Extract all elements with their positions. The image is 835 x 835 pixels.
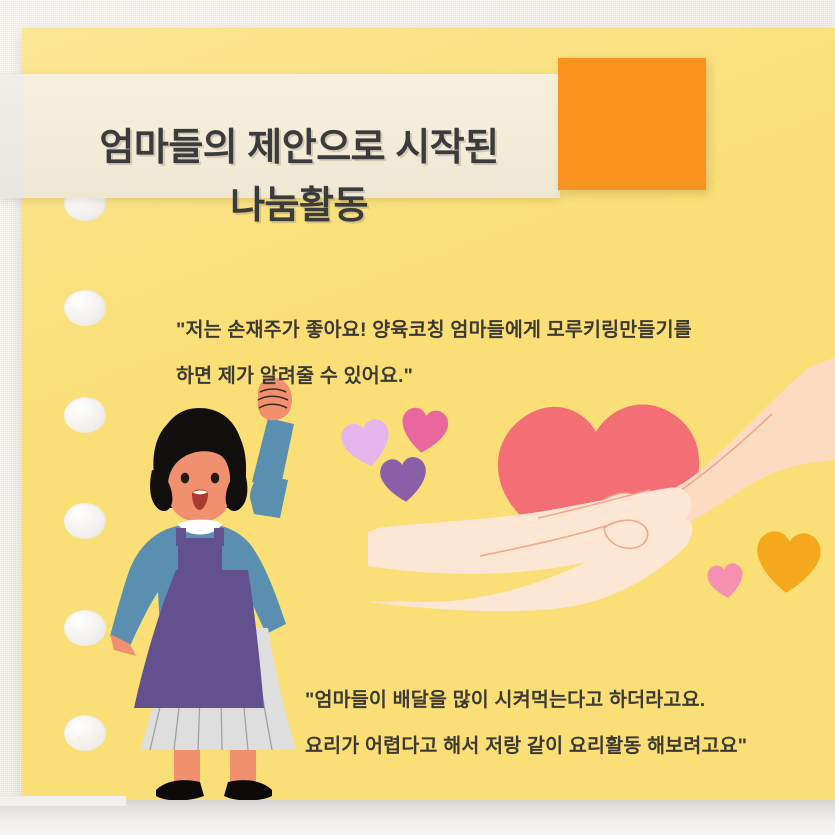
page-title-line-2: 나눔활동 [34,178,564,236]
orange-accent-block [558,58,706,190]
title-banner-tab [0,74,24,198]
quote-bottom: "엄마들이 배달을 많이 시켜먹는다고 하더라고요. 요리가 어렵다고 해서 저… [305,632,815,815]
poster-card: 엄마들의 제안으로 시작된 나눔활동 "저는 손재주가 좋아요! 양육코칭 엄마… [0,0,835,835]
notebook-punch-hole-6 [64,715,106,751]
page-title: 엄마들의 제안으로 시작된 나눔활동 [34,62,564,293]
eye-left [181,473,189,484]
shoe-left [156,780,204,800]
quote-top-line-1: "저는 손재주가 좋아요! 양육코칭 엄마들에게 모루키링만들기를 [176,319,692,341]
ground-strip-left [0,796,126,806]
notebook-punch-hole-4 [64,503,106,539]
eye-right [211,473,219,484]
quote-top-line-2: 하면 제가 알려줄 수 있어요." [176,354,796,400]
quote-top: "저는 손재주가 좋아요! 양육코칭 엄마들에게 모루키링만들기를 하면 제가 … [176,262,796,445]
notebook-punch-hole-5 [64,610,106,646]
notebook-punch-hole-2 [64,290,106,326]
quote-bottom-line-1: "엄마들이 배달을 많이 시켜먹는다고 하더라고요. [305,689,705,711]
shoe-right [224,780,272,800]
page-title-line-1: 엄마들의 제안으로 시작된 [99,127,498,169]
notebook-punch-hole-3 [64,397,106,433]
quote-bottom-line-2: 요리가 어렵다고 해서 저랑 같이 요리활동 해보려고요" [305,724,815,770]
